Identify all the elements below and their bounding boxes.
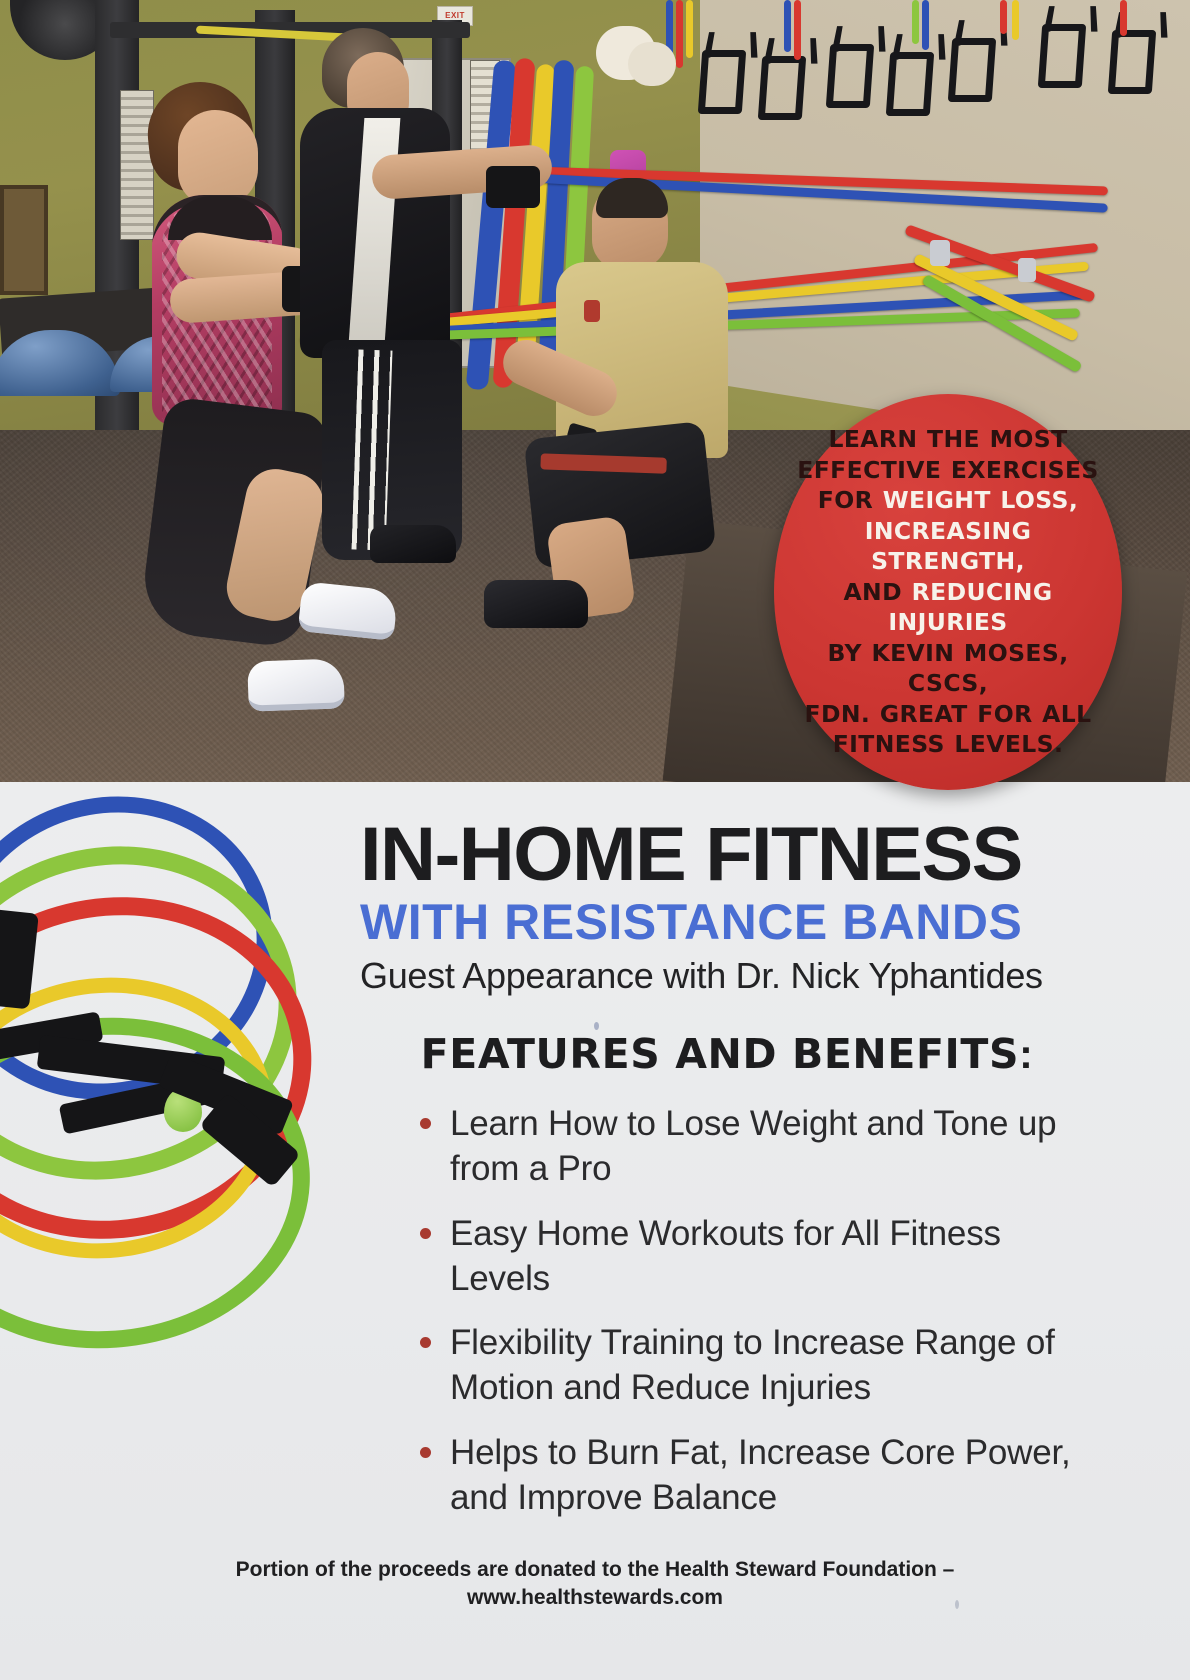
features-heading: FEATURES AND BENEFITS: <box>360 1030 1100 1078</box>
weight-stack-left <box>120 90 154 240</box>
promo-badge-run: EFFECTIVE EXERCISES <box>797 456 1098 484</box>
promo-badge-line: FOR WEIGHT LOSS, <box>790 485 1106 516</box>
footer-note: Portion of the proceeds are donated to t… <box>0 1556 1190 1613</box>
promo-badge-line: INCREASING STRENGTH, <box>790 516 1106 577</box>
promo-badge-highlight: WEIGHT LOSS, <box>883 486 1079 514</box>
feature-item-label: Flexibility Training to Increase Range o… <box>450 1323 1055 1407</box>
page-title: IN-HOME FITNESS <box>360 818 1115 892</box>
feature-item: Helps to Burn Fat, Increase Core Power, … <box>420 1431 1100 1521</box>
bullet-icon <box>420 1447 431 1458</box>
promo-badge-line: FDN. GREAT FOR ALL <box>790 699 1106 730</box>
promo-badge-run: FOR <box>818 486 883 514</box>
bullet-icon <box>420 1118 431 1129</box>
promo-badge-line: FITNESS LEVELS. <box>790 729 1106 760</box>
promo-badge-line: AND REDUCING INJURIES <box>790 577 1106 638</box>
feature-item-label: Easy Home Workouts for All Fitness Level… <box>450 1214 1001 1298</box>
promo-badge: LEARN THE MOSTEFFECTIVE EXERCISESFOR WEI… <box>774 394 1122 790</box>
promo-badge-line: EFFECTIVE EXERCISES <box>790 455 1106 486</box>
wall-frame <box>0 185 48 295</box>
footer-line-1: Portion of the proceeds are donated to t… <box>0 1556 1190 1584</box>
page-subtitle: WITH RESISTANCE BANDS <box>360 896 1100 949</box>
feature-item-label: Learn How to Lose Weight and Tone up fro… <box>450 1104 1056 1188</box>
feature-item-label: Helps to Burn Fat, Increase Core Power, … <box>450 1433 1071 1517</box>
guest-appearance-line: Guest Appearance with Dr. Nick Yphantide… <box>360 955 1100 996</box>
features-heading-text: FEATURES AND BENEFITS <box>421 1030 1020 1078</box>
features-list: Learn How to Lose Weight and Tone up fro… <box>360 1102 1100 1520</box>
title-block: IN-HOME FITNESS WITH RESISTANCE BANDS Gu… <box>360 818 1100 1540</box>
promo-badge-highlight: REDUCING INJURIES <box>888 578 1052 637</box>
feature-item: Flexibility Training to Increase Range o… <box>420 1321 1100 1411</box>
promo-badge-run: LEARN THE MOST <box>828 425 1067 453</box>
promo-badge-run: FITNESS LEVELS. <box>833 730 1064 758</box>
footer-line-2: www.healthstewards.com <box>0 1584 1190 1612</box>
promo-badge-run: AND <box>843 578 911 606</box>
promo-badge-line: LEARN THE MOST <box>790 424 1106 455</box>
promo-badge-highlight: INCREASING STRENGTH, <box>865 517 1032 576</box>
promo-badge-run: FDN. GREAT FOR ALL <box>805 700 1092 728</box>
features-heading-colon: : <box>1019 1031 1033 1077</box>
bullet-icon <box>420 1337 431 1348</box>
bullet-icon <box>420 1228 431 1239</box>
resistance-bands-product-image <box>0 788 384 1428</box>
feature-item: Learn How to Lose Weight and Tone up fro… <box>420 1102 1100 1192</box>
dvd-cover: EXIT <box>0 0 1190 1680</box>
feature-item: Easy Home Workouts for All Fitness Level… <box>420 1212 1100 1302</box>
promo-badge-run: BY KEVIN MOSES, CSCS, <box>827 639 1068 698</box>
promo-badge-line: BY KEVIN MOSES, CSCS, <box>790 638 1106 699</box>
promo-badge-text: LEARN THE MOSTEFFECTIVE EXERCISESFOR WEI… <box>790 424 1106 760</box>
